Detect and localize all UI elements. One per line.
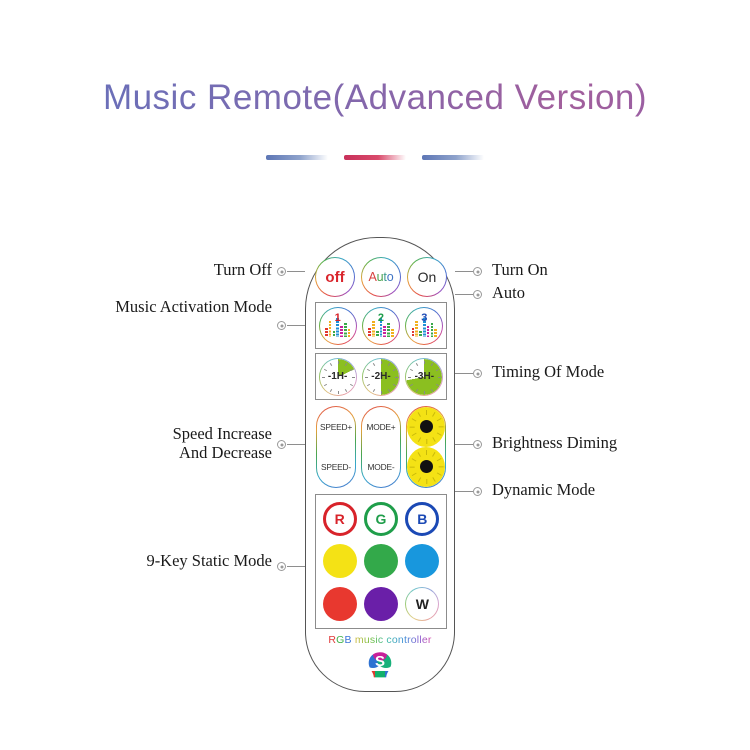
color-red-button[interactable] — [323, 587, 357, 621]
brightness-down-sun-icon[interactable] — [407, 447, 445, 487]
timer-1h-button[interactable]: -1H- — [319, 358, 357, 396]
leader-line-turn-on — [455, 271, 473, 272]
color-g-button[interactable]: G — [364, 502, 398, 536]
callout-timing-of-mode: Timing Of Mode — [492, 363, 712, 382]
auto-letter-a: A — [369, 270, 377, 284]
color-b-button-label: B — [417, 511, 427, 527]
on-button[interactable]: On — [407, 257, 447, 297]
timer-3h-button[interactable]: -3H- — [405, 358, 443, 396]
divider-bar-red-center — [344, 155, 406, 160]
color-r-button[interactable]: R — [323, 502, 357, 536]
brand-text: RGB music controller — [306, 634, 454, 646]
mode-pill: MODE+ MODE- — [361, 406, 401, 488]
speed-down-button[interactable]: SPEED- — [317, 447, 355, 487]
color-green-button[interactable] — [364, 544, 398, 578]
callout-music-activation-mode: Music Activation Mode — [60, 298, 272, 317]
remote-control-body: off Auto On 1 2 3 — [305, 237, 455, 692]
title-divider — [0, 155, 750, 160]
color-white-button[interactable]: W — [405, 587, 439, 621]
speed-pill: SPEED+ SPEED- — [316, 406, 356, 488]
leader-line-speed — [287, 444, 305, 445]
music-mode-2-button[interactable]: 2 — [362, 307, 400, 345]
color-r-button-label: R — [335, 511, 345, 527]
auto-button[interactable]: Auto — [361, 257, 401, 297]
mode-up-button[interactable]: MODE+ — [362, 407, 400, 447]
callout-dot-music-activation — [277, 321, 286, 330]
svg-text:S: S — [375, 653, 385, 670]
music-mode-3-button[interactable]: 3 — [405, 307, 443, 345]
music-activation-panel: 1 2 3 — [315, 302, 447, 349]
color-blue-button[interactable] — [405, 544, 439, 578]
callout-turn-off: Turn Off — [80, 261, 272, 280]
leader-line-nine-key — [287, 566, 305, 567]
timer-2h-button[interactable]: -2H- — [362, 358, 400, 396]
power-row: off Auto On — [315, 256, 447, 298]
callout-auto: Auto — [492, 284, 712, 303]
callout-dot-timing — [473, 369, 482, 378]
callout-dot-turn-off — [277, 267, 286, 276]
leader-line-brightness — [455, 444, 473, 445]
speed-mode-brightness-panel: SPEED+ SPEED- MODE+ MODE- — [315, 404, 447, 489]
leader-line-timing — [455, 373, 473, 374]
callout-dot-nine-key — [277, 562, 286, 571]
callout-dot-speed — [277, 440, 286, 449]
static-color-panel: RGBW — [315, 494, 447, 629]
callout-dot-auto — [473, 290, 482, 299]
brightness-up-sun-icon[interactable] — [407, 407, 445, 447]
leader-line-dynamic — [455, 491, 473, 492]
speed-up-button[interactable]: SPEED+ — [317, 407, 355, 447]
leader-line-auto — [455, 294, 473, 295]
page-title: Music Remote(Advanced Version) — [103, 78, 647, 118]
off-button[interactable]: off — [315, 257, 355, 297]
callout-dynamic-mode: Dynamic Mode — [492, 481, 712, 500]
timing-panel: -1H- -2H- -3H- — [315, 353, 447, 400]
color-purple-button[interactable] — [364, 587, 398, 621]
brightness-pill — [406, 406, 446, 488]
auto-letter-o: o — [387, 270, 394, 284]
color-yellow-button[interactable] — [323, 544, 357, 578]
color-g-button-label: G — [376, 511, 387, 527]
callout-nine-key-static-mode: 9-Key Static Mode — [80, 552, 272, 571]
callout-dot-turn-on — [473, 267, 482, 276]
divider-bar-blue-right — [422, 155, 484, 160]
callout-speed-increase-decrease: Speed Increase And Decrease — [80, 425, 272, 463]
color-b-button[interactable]: B — [405, 502, 439, 536]
music-mode-1-button[interactable]: 1 — [319, 307, 357, 345]
leader-line-music-activation — [287, 325, 305, 326]
callout-brightness-diming: Brightness Diming — [492, 434, 712, 453]
leader-line-turn-off — [287, 271, 305, 272]
title-block: Music Remote(Advanced Version) — [0, 78, 750, 118]
divider-bar-blue-left — [266, 155, 328, 160]
callout-turn-on: Turn On — [492, 261, 712, 280]
color-white-button-label: W — [416, 596, 429, 612]
mode-down-button[interactable]: MODE- — [362, 447, 400, 487]
bulb-logo-icon: S — [365, 650, 395, 687]
callout-dot-brightness — [473, 440, 482, 449]
callout-dot-dynamic — [473, 487, 482, 496]
